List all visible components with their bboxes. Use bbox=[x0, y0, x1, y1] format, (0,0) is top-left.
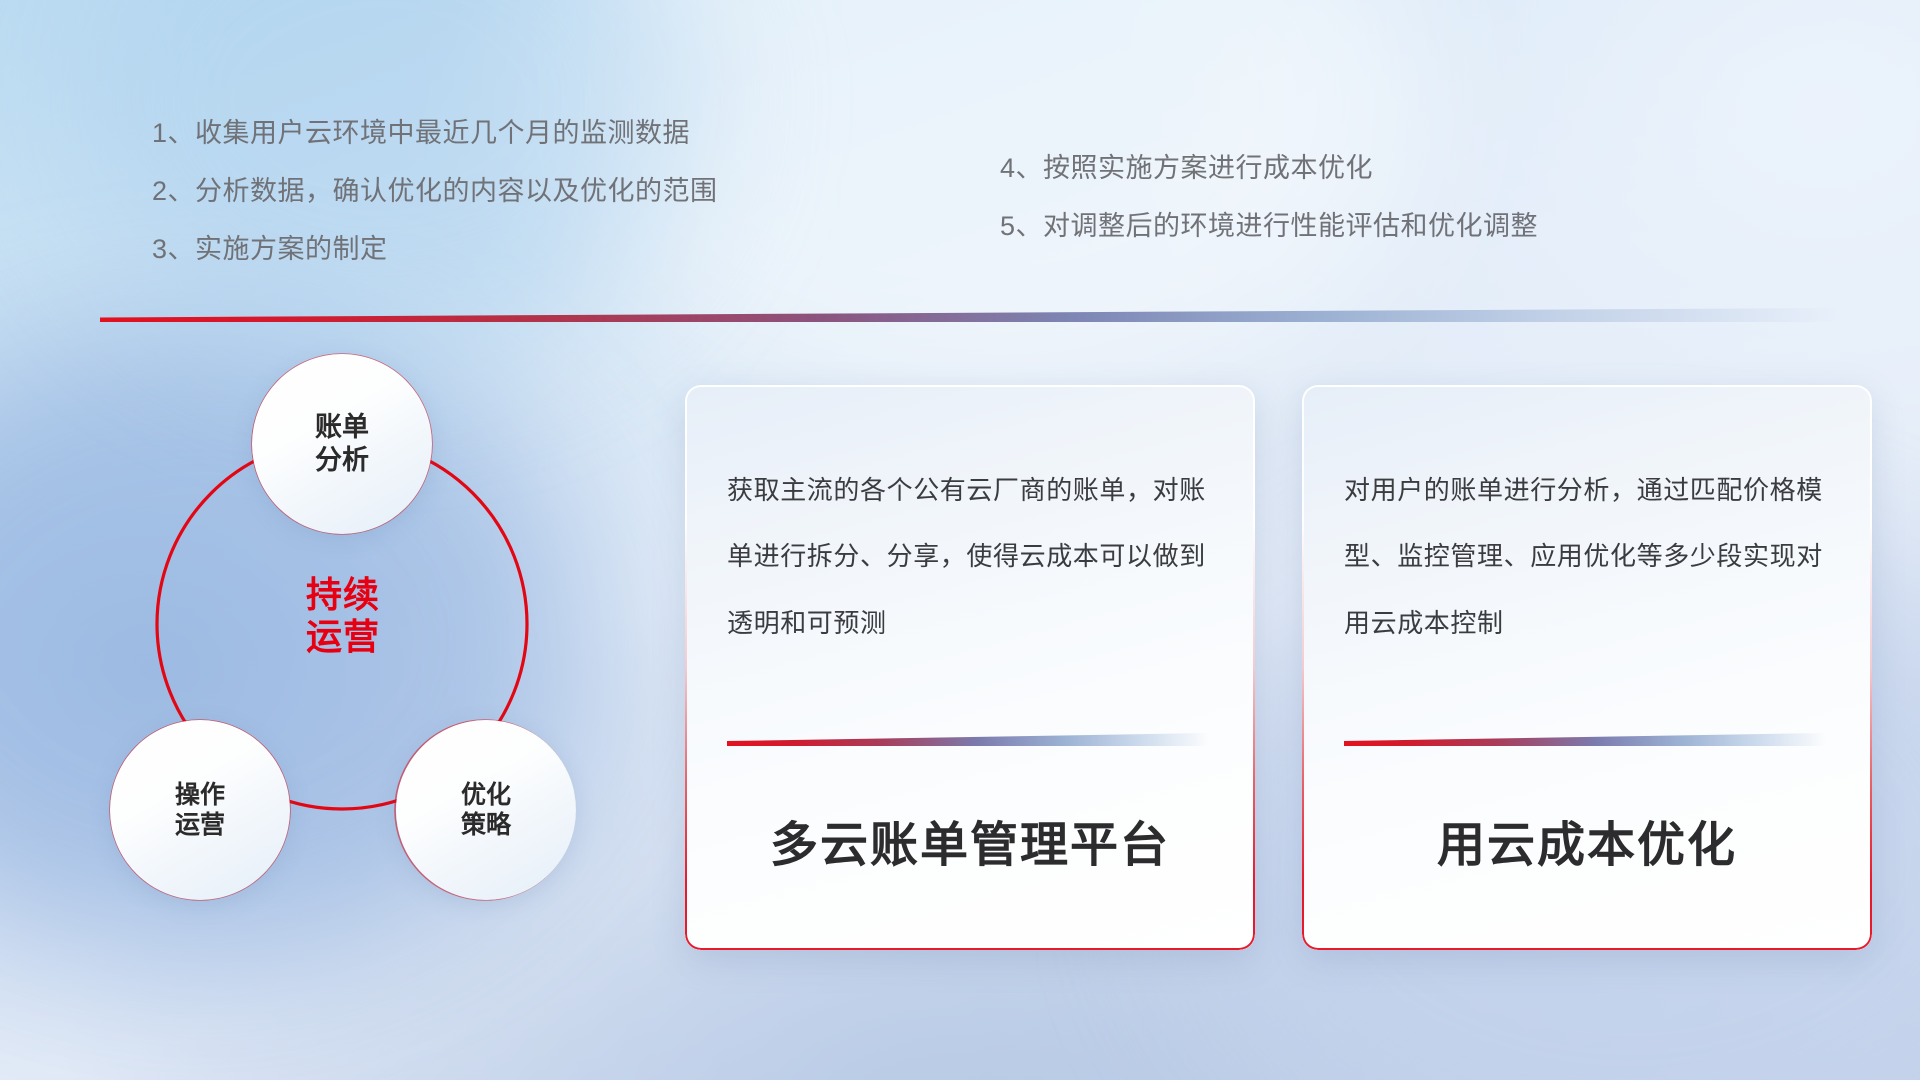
node-label-line1: 优化 bbox=[461, 780, 511, 811]
steps-left-column: 1、收集用户云环境中最近几个月的监测数据 2、分析数据，确认优化的内容以及优化的… bbox=[152, 120, 718, 263]
step-item-5: 5、对调整后的环境进行性能评估和优化调整 bbox=[1000, 213, 1538, 240]
card-title-text: 用云成本优化 bbox=[1302, 805, 1872, 875]
diagram-node-optimization-strategy[interactable]: 优化 策略 bbox=[396, 720, 576, 900]
center-label-line1: 持续 bbox=[248, 574, 438, 616]
step-item-1: 1、收集用户云环境中最近几个月的监测数据 bbox=[152, 120, 718, 147]
feature-card-cloud-cost-optimization[interactable]: 对用户的账单进行分析，通过匹配价格模型、监控管理、应用优化等多少段实现对用云成本… bbox=[1302, 385, 1872, 950]
card-title-text: 多云账单管理平台 bbox=[685, 805, 1255, 875]
diagram-node-bill-analysis[interactable]: 账单 分析 bbox=[252, 354, 432, 534]
step-item-3: 3、实施方案的制定 bbox=[152, 236, 718, 263]
card-divider bbox=[1344, 733, 1826, 746]
node-label-line1: 操作 bbox=[175, 780, 225, 811]
center-label-line2: 运营 bbox=[248, 616, 438, 658]
card-divider bbox=[727, 733, 1209, 746]
card-body-text: 对用户的账单进行分析，通过匹配价格模型、监控管理、应用优化等多少段实现对用云成本… bbox=[1344, 457, 1832, 656]
feature-card-multicloud-billing[interactable]: 获取主流的各个公有云厂商的账单，对账单进行拆分、分享，使得云成本可以做到透明和可… bbox=[685, 385, 1255, 950]
slide-canvas: 1、收集用户云环境中最近几个月的监测数据 2、分析数据，确认优化的内容以及优化的… bbox=[0, 0, 1920, 1080]
node-label-line2: 策略 bbox=[461, 810, 511, 841]
step-item-4: 4、按照实施方案进行成本优化 bbox=[1000, 155, 1538, 182]
continuous-operation-diagram: 账单 分析 操作 运营 优化 策略 持续 运营 bbox=[96, 352, 656, 952]
node-label-line2: 运营 bbox=[175, 810, 225, 841]
node-label-line2: 分析 bbox=[315, 444, 369, 477]
section-divider bbox=[100, 308, 1838, 322]
diagram-center-label: 持续 运营 bbox=[248, 574, 438, 659]
node-label-line1: 账单 bbox=[315, 411, 369, 444]
card-body-text: 获取主流的各个公有云厂商的账单，对账单进行拆分、分享，使得云成本可以做到透明和可… bbox=[727, 457, 1215, 656]
steps-right-column: 4、按照实施方案进行成本优化 5、对调整后的环境进行性能评估和优化调整 bbox=[1000, 155, 1538, 240]
step-item-2: 2、分析数据，确认优化的内容以及优化的范围 bbox=[152, 178, 718, 205]
diagram-node-operations[interactable]: 操作 运营 bbox=[110, 720, 290, 900]
